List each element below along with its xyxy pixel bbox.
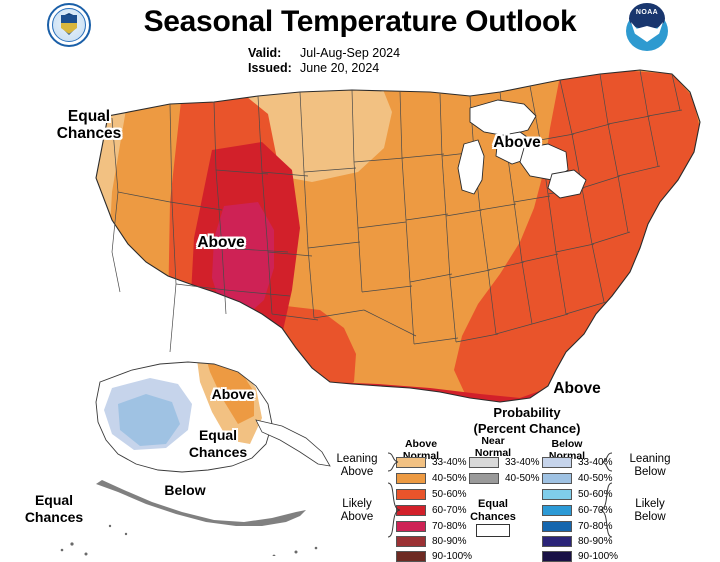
legend-range-below-90to100: 90-100% (578, 551, 618, 562)
legend-swatch-above-90to100 (396, 551, 426, 562)
page-title: Seasonal Temperature Outlook (110, 2, 610, 42)
legend-swatch-equal-chances (476, 524, 510, 537)
map-label-equal-chances-northwest: EqualChances (34, 108, 144, 142)
noaa-logo-text: NOAA (624, 9, 670, 16)
legend-swatch-near-33to40 (469, 457, 499, 468)
legend-side-label-likely-above: LikelyAbove (326, 498, 388, 524)
legend-swatch-above-40to50 (396, 473, 426, 484)
legend-swatch-below-90to100 (542, 551, 572, 562)
legend: Probability(Percent Chance) AboveNormal … (332, 405, 720, 556)
legend-swatch-above-33to40 (396, 457, 426, 468)
legend-range-above-80to90: 80-90% (432, 536, 466, 547)
legend-swatch-above-70to80 (396, 521, 426, 532)
legend-swatch-below-33to40 (542, 457, 572, 468)
legend-range-near-40to50: 40-50% (505, 473, 539, 484)
legend-swatch-above-80to90 (396, 536, 426, 547)
map-label-above-great-lakes: Above (482, 134, 552, 151)
legend-swatch-near-40to50 (469, 473, 499, 484)
map-label-equal-chances-alaska: EqualChances (166, 427, 270, 461)
noaa-logo-icon: NOAA (624, 3, 670, 51)
legend-swatch-above-60to70 (396, 505, 426, 516)
legend-range-below-80to90: 80-90% (578, 536, 612, 547)
legend-range-below-40to50: 40-50% (578, 473, 612, 484)
seasonal-temperature-outlook-map: Seasonal Temperature Outlook Valid:Jul-A… (0, 0, 720, 556)
legend-range-above-40to50: 40-50% (432, 473, 466, 484)
legend-equal-chances-label: EqualChances (460, 498, 526, 524)
map-label-below-alaska-southwest: Below (152, 482, 218, 499)
legend-range-below-60to70: 60-70% (578, 505, 612, 516)
legend-swatch-above-50to60 (396, 489, 426, 500)
legend-title: Probability(Percent Chance) (392, 405, 662, 437)
legend-range-below-70to80: 70-80% (578, 521, 612, 532)
map-label-above-florida: Above (542, 380, 612, 397)
map-label-equal-chances-hawaii: EqualChances (2, 492, 106, 526)
legend-swatch-below-50to60 (542, 489, 572, 500)
legend-swatch-below-80to90 (542, 536, 572, 547)
legend-side-label-likely-below: LikelyBelow (618, 498, 682, 524)
department-of-commerce-seal-icon (47, 3, 91, 47)
legend-range-below-50to60: 50-60% (578, 489, 612, 500)
map-label-above-alaska-north: Above (200, 386, 266, 403)
map-label-above-southwest: Above (186, 234, 256, 251)
legend-range-above-90to100: 90-100% (432, 551, 472, 562)
legend-range-below-33to40: 33-40% (578, 457, 612, 468)
legend-range-near-33to40: 33-40% (505, 457, 539, 468)
legend-range-above-33to40: 33-40% (432, 457, 466, 468)
legend-swatch-below-40to50 (542, 473, 572, 484)
legend-side-label-leaning-below: LeaningBelow (618, 453, 682, 479)
legend-swatch-below-70to80 (542, 521, 572, 532)
legend-swatch-below-60to70 (542, 505, 572, 516)
legend-side-label-leaning-above: LeaningAbove (326, 453, 388, 479)
